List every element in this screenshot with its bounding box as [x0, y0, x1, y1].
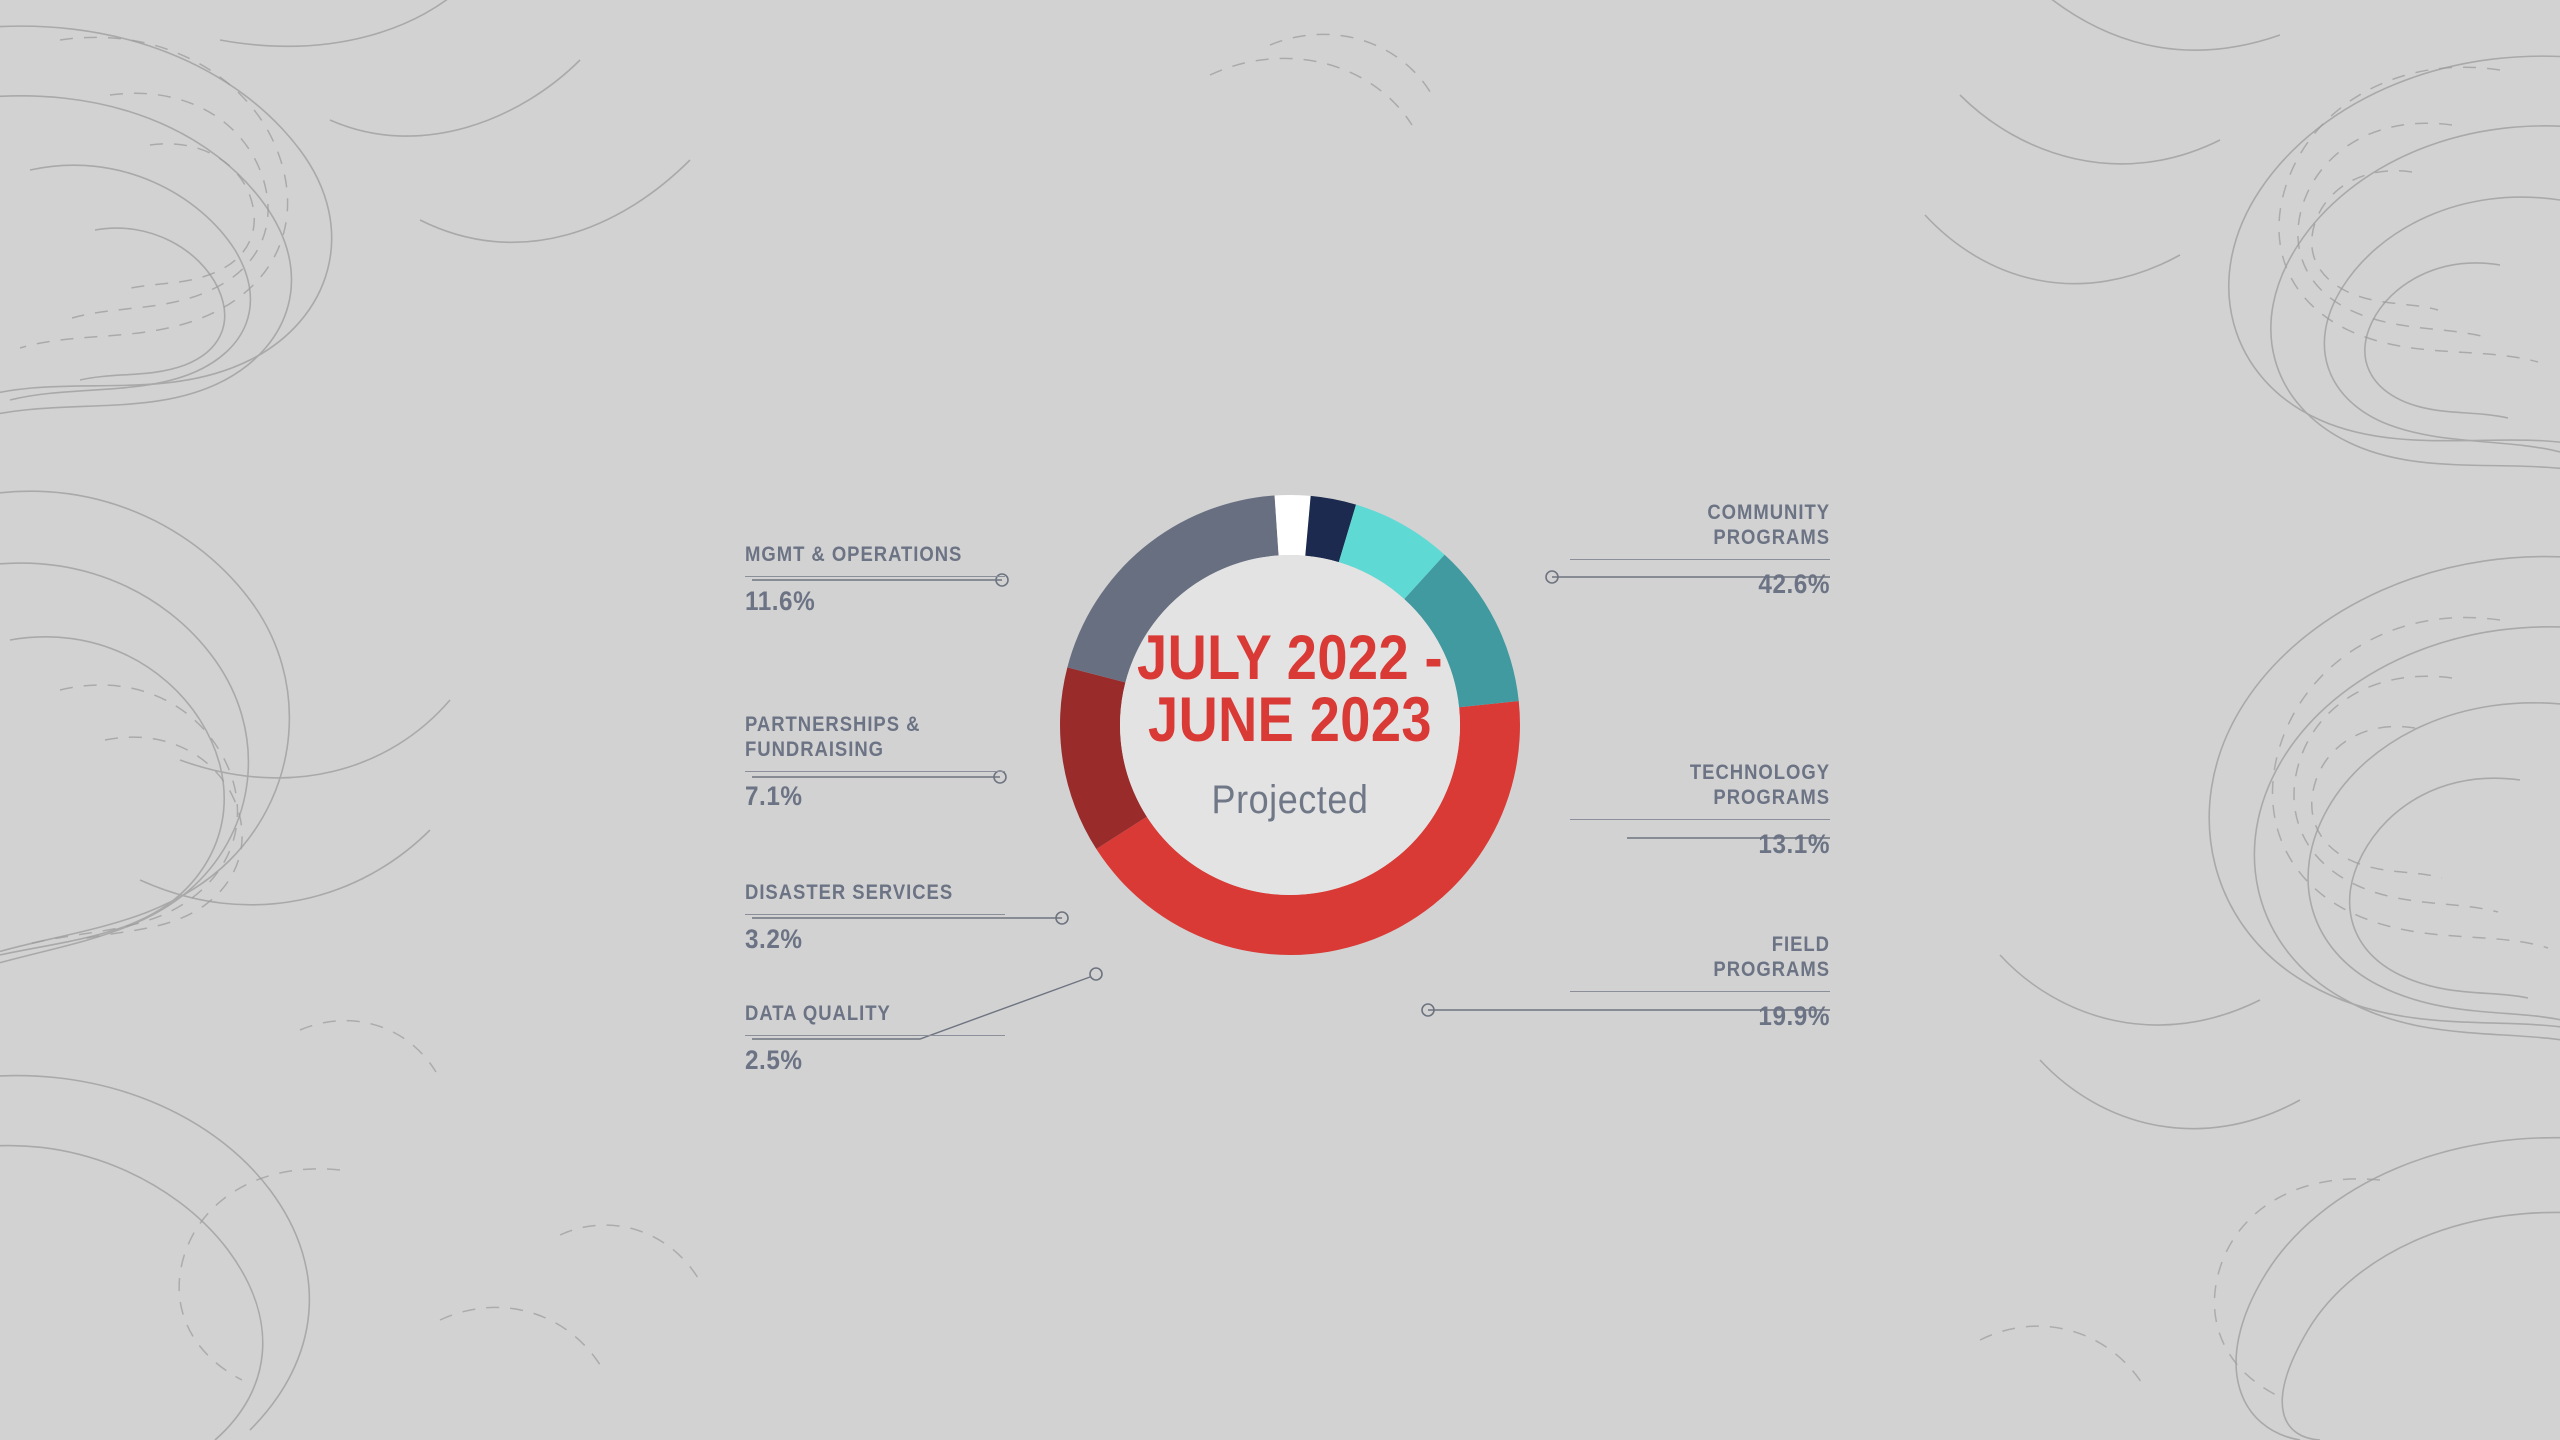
- callout-rule-community: [1570, 559, 1830, 560]
- callout-label-technology-line2: PROGRAMS: [1601, 785, 1830, 810]
- donut-slice-data-quality[interactable]: [1275, 495, 1311, 556]
- callout-pct-disaster: 3.2%: [745, 924, 979, 955]
- callout-partnerships-fundraising[interactable]: PARTNERSHIPS & FUNDRAISING 7.1%: [745, 712, 1005, 812]
- callout-label-field-line2: PROGRAMS: [1601, 957, 1830, 982]
- callout-technology-programs[interactable]: TECHNOLOGY PROGRAMS 13.1%: [1570, 760, 1830, 860]
- callout-community-programs[interactable]: COMMUNITY PROGRAMS 42.6%: [1570, 500, 1830, 600]
- leader-dot-field: [1422, 1004, 1434, 1016]
- callout-pct-partnerships: 7.1%: [745, 781, 979, 812]
- callout-label-disaster: DISASTER SERVICES: [745, 880, 974, 905]
- callout-rule-partnerships: [745, 771, 1005, 772]
- callout-label-technology-line1: TECHNOLOGY: [1601, 760, 1830, 785]
- donut-hub: [1120, 555, 1460, 895]
- callout-pct-technology: 13.1%: [1596, 829, 1830, 860]
- callout-label-mgmt: MGMT & OPERATIONS: [745, 542, 974, 567]
- callout-rule-mgmt: [745, 576, 1005, 577]
- callout-label-partnerships-line2: FUNDRAISING: [745, 737, 974, 762]
- callout-pct-community: 42.6%: [1596, 569, 1830, 600]
- callout-pct-field: 19.9%: [1596, 1001, 1830, 1032]
- callout-pct-dataquality: 2.5%: [745, 1045, 979, 1076]
- callout-rule-dataquality: [745, 1035, 1005, 1036]
- callout-label-community-line1: COMMUNITY: [1601, 500, 1830, 525]
- callout-disaster-services[interactable]: DISASTER SERVICES 3.2%: [745, 880, 1005, 955]
- callout-label-dataquality: DATA QUALITY: [745, 1001, 974, 1026]
- leader-dot-dataquality: [1090, 968, 1102, 980]
- callout-rule-field: [1570, 991, 1830, 992]
- donut-chart: [1060, 495, 1520, 955]
- callout-field-programs[interactable]: FIELD PROGRAMS 19.9%: [1570, 932, 1830, 1032]
- callout-mgmt-operations[interactable]: MGMT & OPERATIONS 11.6%: [745, 542, 1005, 617]
- callout-rule-technology: [1570, 819, 1830, 820]
- callout-pct-mgmt: 11.6%: [745, 586, 979, 617]
- callout-label-community-line2: PROGRAMS: [1601, 525, 1830, 550]
- callout-label-field-line1: FIELD: [1601, 932, 1830, 957]
- leader-dot-community: [1546, 571, 1558, 583]
- callout-data-quality[interactable]: DATA QUALITY 2.5%: [745, 1001, 1005, 1076]
- infographic-canvas: JULY 2022 - JUNE 2023 Projected COMMUNIT…: [0, 0, 2560, 1440]
- donut-svg: [1060, 495, 1520, 955]
- callout-rule-disaster: [745, 914, 1005, 915]
- callout-label-partnerships-line1: PARTNERSHIPS &: [745, 712, 974, 737]
